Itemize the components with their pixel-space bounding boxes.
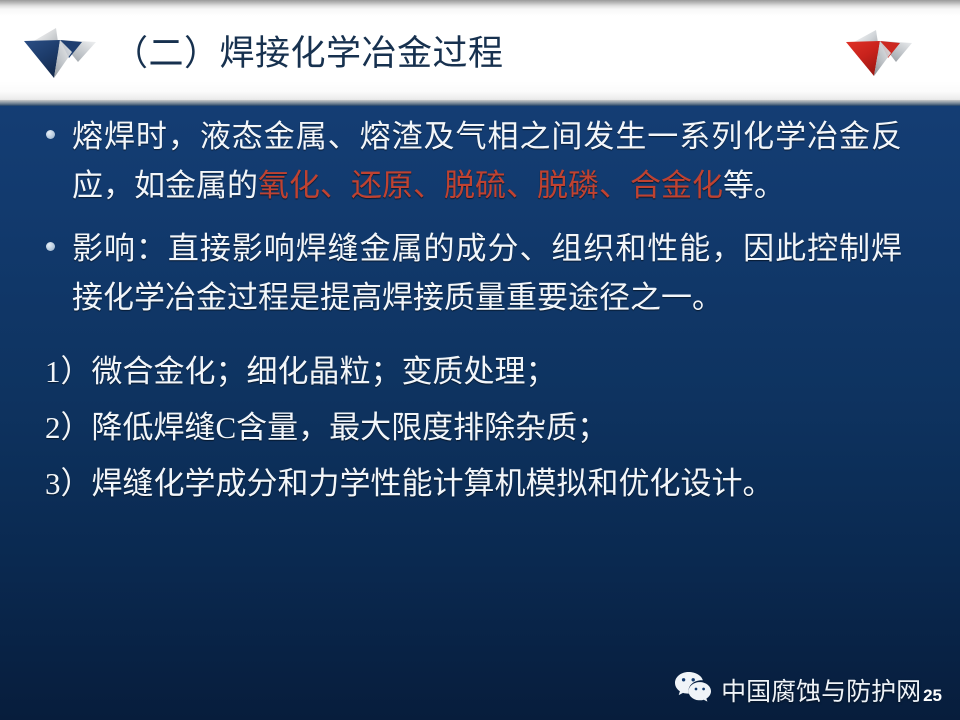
bullet-dot-icon xyxy=(46,242,55,251)
bullet-1-segment-2-highlight: 氧化、还原、脱硫、脱磷、合金化 xyxy=(258,168,723,203)
bullet-item-1: 熔焊时，液态金属、熔渣及气相之间发生一系列化学冶金反应，如金属的氧化、还原、脱硫… xyxy=(0,112,960,210)
header-divider xyxy=(0,100,960,106)
slide-canvas: （二）焊接化学冶金过程 熔焊时，液态金属、熔渣及气相之间发生一系列化学冶金反应，… xyxy=(0,0,960,720)
red-arrow-logo-icon xyxy=(840,26,914,82)
blue-arrow-logo-icon xyxy=(16,22,98,84)
numbered-item-1: 1）微合金化；细化晶粒；变质处理； xyxy=(45,344,960,400)
page-title: （二）焊接化学冶金过程 xyxy=(113,32,504,76)
footer-watermark: 中国腐蚀与防护网 25 xyxy=(673,670,942,706)
bullet-2-segment-1: 影响：直接影响焊缝金属的成分、组织和性能，因此控制焊接化学冶金过程是提高焊接质量… xyxy=(72,231,902,315)
bullet-dot-icon xyxy=(46,130,55,139)
slide-body: 熔焊时，液态金属、熔渣及气相之间发生一系列化学冶金反应，如金属的氧化、还原、脱硫… xyxy=(0,112,960,512)
bullet-paragraph-2: 影响：直接影响焊缝金属的成分、组织和性能，因此控制焊接化学冶金过程是提高焊接质量… xyxy=(72,224,960,322)
footer-site-name: 中国腐蚀与防护网 xyxy=(721,678,921,706)
numbered-item-3: 3）焊缝化学成分和力学性能计算机模拟和优化设计。 xyxy=(45,456,960,512)
bullet-item-2: 影响：直接影响焊缝金属的成分、组织和性能，因此控制焊接化学冶金过程是提高焊接质量… xyxy=(0,224,960,322)
bullet-paragraph-1: 熔焊时，液态金属、熔渣及气相之间发生一系列化学冶金反应，如金属的氧化、还原、脱硫… xyxy=(72,112,960,210)
numbered-item-2: 2）降低焊缝C含量，最大限度排除杂质； xyxy=(45,400,960,456)
page-number: 25 xyxy=(923,687,942,705)
wechat-icon xyxy=(673,670,713,704)
numbered-list: 1）微合金化；细化晶粒；变质处理； 2）降低焊缝C含量，最大限度排除杂质； 3）… xyxy=(0,344,960,512)
bullet-1-segment-3: 等。 xyxy=(723,168,785,203)
